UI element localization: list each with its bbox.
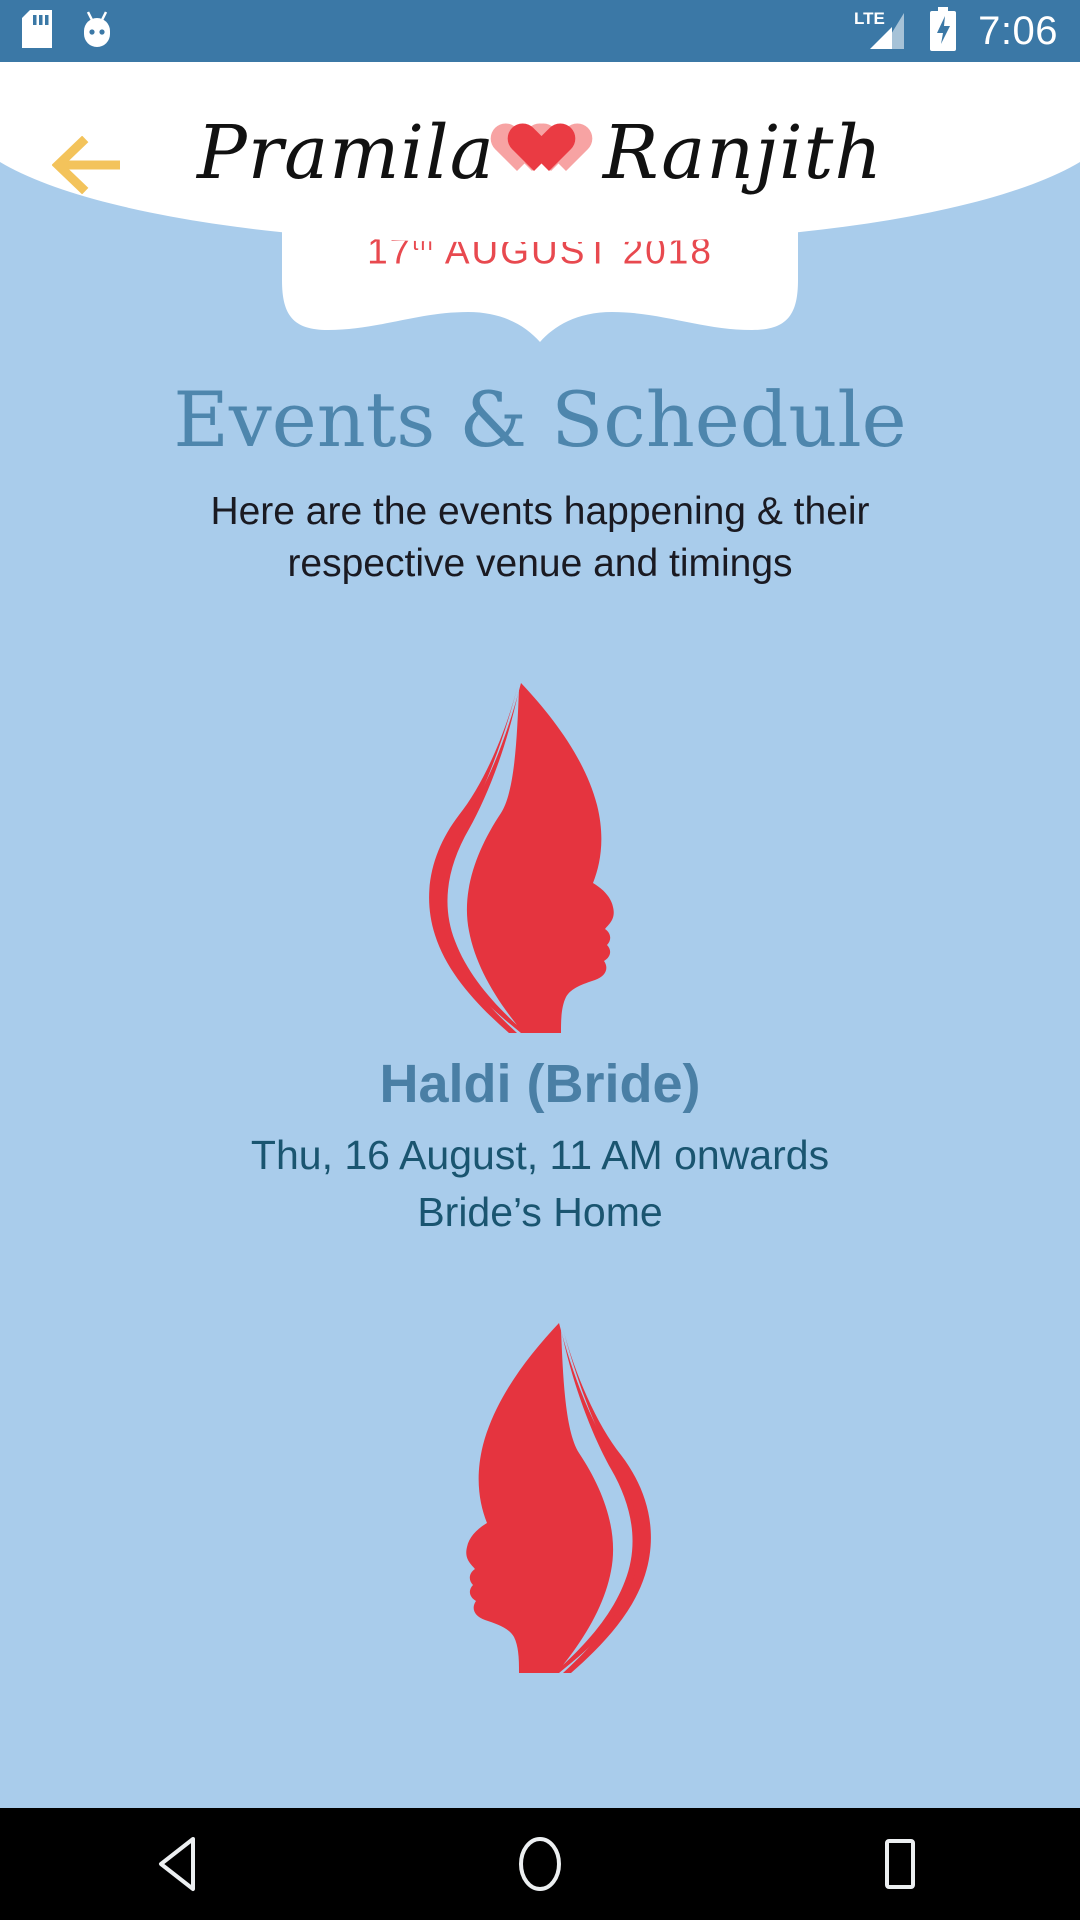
event-item[interactable] — [0, 1317, 1080, 1682]
nav-back-button[interactable] — [0, 1808, 360, 1920]
page-content: Events & Schedule Here are the events ha… — [0, 380, 1080, 1760]
page-subtitle: Here are the events happening & their re… — [160, 486, 920, 591]
event-datetime: Thu, 16 August, 11 AM onwards — [0, 1129, 1080, 1182]
svg-text:LTE: LTE — [854, 9, 885, 28]
app-header-card — [0, 62, 1080, 242]
android-mascot-icon — [80, 9, 114, 54]
event-venue: Bride’s Home — [0, 1186, 1080, 1239]
status-bar-right-icons: LTE 7:06 — [852, 7, 1058, 56]
circle-icon — [515, 1835, 565, 1893]
bride-face-silhouette-icon — [425, 677, 655, 1042]
groom-face-silhouette-icon — [425, 1317, 655, 1682]
status-bar-left-icons — [22, 9, 114, 54]
square-icon — [877, 1835, 923, 1893]
battery-charging-icon — [928, 7, 958, 56]
android-nav-bar — [0, 1808, 1080, 1920]
lte-signal-icon: LTE — [852, 7, 908, 56]
events-list: Haldi (Bride) Thu, 16 August, 11 AM onwa… — [0, 677, 1080, 1682]
triangle-left-icon — [153, 1835, 207, 1893]
nav-recents-button[interactable] — [720, 1808, 1080, 1920]
sd-card-icon — [22, 10, 52, 53]
event-title: Haldi (Bride) — [0, 1052, 1080, 1117]
event-item[interactable]: Haldi (Bride) Thu, 16 August, 11 AM onwa… — [0, 677, 1080, 1239]
back-arrow-icon — [52, 136, 124, 194]
status-bar: LTE 7:06 — [0, 0, 1080, 62]
status-bar-clock: 7:06 — [978, 11, 1058, 51]
page-title: Events & Schedule — [0, 380, 1080, 460]
back-button[interactable] — [42, 125, 134, 205]
nav-home-button[interactable] — [360, 1808, 720, 1920]
